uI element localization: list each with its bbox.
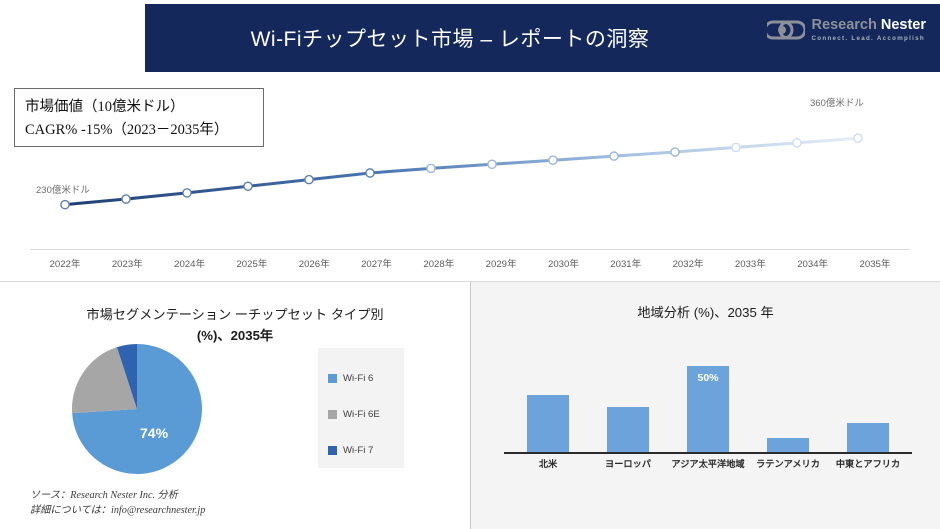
pie-legend-item[interactable]: Wi-Fi 6E: [328, 396, 404, 432]
logo-text-block: Research Nester Connect. Lead. Accomplis…: [812, 18, 926, 42]
x-tick-label: 2029年: [486, 256, 517, 270]
bar-rect[interactable]: [847, 423, 889, 452]
line-data-point: [305, 176, 313, 184]
bar-data-label: 50%: [687, 372, 729, 384]
line-data-point: [61, 201, 69, 209]
header-banner: Wi-Fiチップセット市場 – レポートの洞察 Research Nester …: [145, 4, 940, 72]
chain-link-icon: [767, 19, 805, 41]
panel-vertical-divider: [470, 282, 471, 529]
segmentation-title-line1: 市場セグメンテーション ーチップセット タイプ別: [86, 307, 383, 322]
bar-chart-x-tick-labels: 北米ヨーロッパアジア太平洋地域ラテンアメリカ中東とアフリカ: [508, 456, 908, 474]
bar-rect[interactable]: 50%: [687, 366, 729, 452]
page-title: Wi-Fiチップセット市場 – レポートの洞察: [145, 4, 755, 72]
pie-legend: Wi-Fi 6Wi-Fi 6EWi-Fi 7: [318, 348, 404, 468]
bar-column[interactable]: [607, 407, 649, 452]
logo-tagline: Connect. Lead. Accomplish: [812, 36, 926, 42]
x-tick-label: 2025年: [236, 256, 267, 270]
x-tick-label: 2028年: [423, 256, 454, 270]
legend-swatch-icon: [328, 410, 337, 419]
x-tick-label: 2026年: [299, 256, 330, 270]
bar-tick-label: 中東とアフリカ: [836, 456, 900, 470]
x-tick-label: 2024年: [174, 256, 205, 270]
line-data-point: [854, 134, 862, 142]
segmentation-pie-chart: [62, 343, 212, 476]
line-chart-x-axis: [30, 249, 910, 250]
line-data-point: [793, 139, 801, 147]
line-data-point: [671, 148, 679, 156]
source-line: ソース：Research Nester Inc. 分析: [30, 489, 205, 504]
pie-data-label: 74%: [140, 425, 168, 441]
x-tick-label: 2033年: [735, 256, 766, 270]
x-tick-label: 2022年: [50, 256, 81, 270]
line-data-point: [183, 189, 191, 197]
x-tick-label: 2031年: [610, 256, 641, 270]
logo-word-research: Research: [812, 17, 877, 33]
x-tick-label: 2027年: [361, 256, 392, 270]
x-tick-label: 2032年: [673, 256, 704, 270]
line-data-point: [244, 182, 252, 190]
contact-line: 詳細については：info@researchnester.jp: [30, 504, 205, 519]
x-tick-label: 2030年: [548, 256, 579, 270]
line-data-point: [732, 143, 740, 151]
bar-column[interactable]: [527, 395, 569, 452]
line-data-point: [610, 152, 618, 160]
legend-label: Wi-Fi 6: [343, 373, 373, 384]
bar-column[interactable]: [767, 438, 809, 452]
line-data-point: [549, 156, 557, 164]
logo-wordmark: Research Nester: [812, 18, 926, 33]
report-infographic-page: Wi-Fiチップセット市場 – レポートの洞察 Research Nester …: [0, 0, 940, 529]
bar-rect[interactable]: [607, 407, 649, 452]
line-data-point: [122, 195, 130, 203]
bar-rect[interactable]: [767, 438, 809, 452]
legend-label: Wi-Fi 7: [343, 445, 373, 456]
x-tick-label: 2035年: [860, 256, 891, 270]
regional-bar-chart: 50%: [508, 356, 908, 452]
brand-logo[interactable]: Research Nester Connect. Lead. Accomplis…: [767, 18, 926, 42]
x-tick-label: 2034年: [797, 256, 828, 270]
line-data-point: [366, 169, 374, 177]
line-data-point: [427, 164, 435, 172]
source-footnote: ソース：Research Nester Inc. 分析 詳細については：info…: [30, 489, 205, 519]
legend-label: Wi-Fi 6E: [343, 409, 380, 420]
logo-word-nester: Nester: [881, 17, 926, 33]
market-forecast-line-chart: [0, 80, 940, 280]
bar-tick-label: アジア太平洋地域: [671, 456, 744, 470]
bar-tick-label: 北米: [539, 456, 557, 470]
segmentation-title-line2: (%)、2035年: [197, 328, 273, 343]
pie-legend-item[interactable]: Wi-Fi 6: [328, 360, 404, 396]
legend-swatch-icon: [328, 374, 337, 383]
bar-column[interactable]: 50%: [687, 366, 729, 452]
bar-tick-label: ヨーロッパ: [605, 456, 651, 470]
bar-tick-label: ラテンアメリカ: [756, 456, 820, 470]
line-data-point: [488, 160, 496, 168]
bar-chart-baseline: [504, 452, 912, 454]
bar-rect[interactable]: [527, 395, 569, 452]
line-start-annotation: 230億米ドル: [36, 182, 90, 196]
pie-legend-item[interactable]: Wi-Fi 7: [328, 432, 404, 468]
x-tick-label: 2023年: [112, 256, 143, 270]
segmentation-title: 市場セグメンテーション ーチップセット タイプ別 (%)、2035年: [20, 304, 450, 347]
line-chart-x-tick-labels: 2022年2023年2024年2025年2026年2027年2028年2029年…: [30, 256, 910, 274]
legend-swatch-icon: [328, 446, 337, 455]
bar-column[interactable]: [847, 423, 889, 452]
line-end-annotation: 360億米ドル: [810, 95, 864, 109]
regional-title: 地域分析 (%)、2035 年: [471, 302, 940, 321]
